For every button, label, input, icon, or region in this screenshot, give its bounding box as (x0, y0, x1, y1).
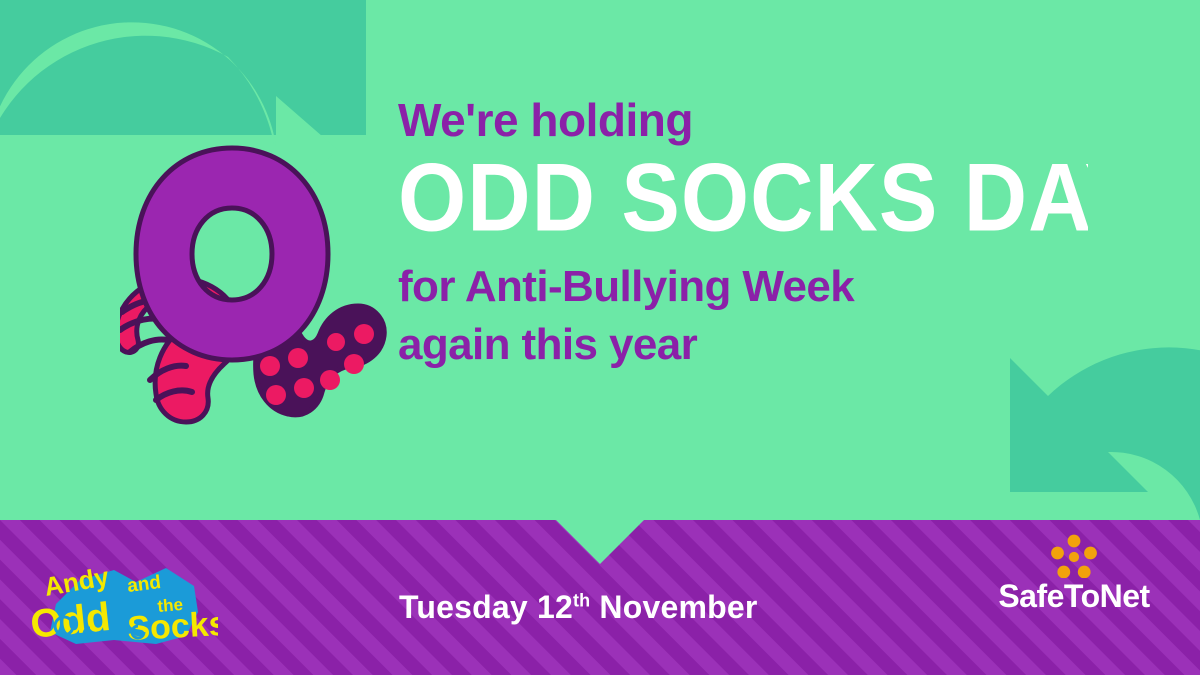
headline-main: ODD SOCKS DAY (398, 150, 1088, 242)
headline-sub-line2: again this year (398, 316, 1098, 374)
logo-word-and: and (126, 572, 162, 597)
logo-word-socks: Socks (126, 604, 218, 647)
andy-odd-socks-logo[interactable]: Andy and the Odd Socks (18, 548, 218, 648)
letter-o-glyph (136, 148, 328, 360)
headline-main-wrap: ODD SOCKS DAY (398, 148, 1098, 244)
event-date: Tuesday 12th November (399, 589, 758, 626)
andy-odd-socks-logo-icon: Andy and the Odd Socks (18, 552, 218, 652)
footer-content: Andy and the Odd Socks Tuesday (0, 520, 1200, 675)
safetonet-wordmark: SafeToNet (984, 580, 1164, 612)
event-date-month: November (599, 589, 757, 625)
safetonet-logo[interactable]: SafeToNet (984, 534, 1164, 612)
flower-dots-icon (1050, 534, 1098, 578)
headline-main-art: ODD SOCKS DAY (398, 150, 1088, 242)
odd-socks-character (120, 130, 400, 430)
letter-o-with-socks-icon (120, 130, 400, 430)
event-date-ordinal: th (573, 590, 590, 610)
headline-sub-line1: for Anti-Bullying Week (398, 258, 1098, 316)
footer-bar: Andy and the Odd Socks Tuesday (0, 520, 1200, 675)
headline-intro: We're holding (398, 96, 1098, 146)
event-date-day: Tuesday 12 (399, 589, 573, 625)
poster-canvas: We're holding ODD SOCKS DAY for Anti-Bul… (0, 0, 1200, 675)
headline-block: We're holding ODD SOCKS DAY for Anti-Bul… (398, 96, 1098, 374)
headline-sub: for Anti-Bullying Week again this year (398, 258, 1098, 374)
